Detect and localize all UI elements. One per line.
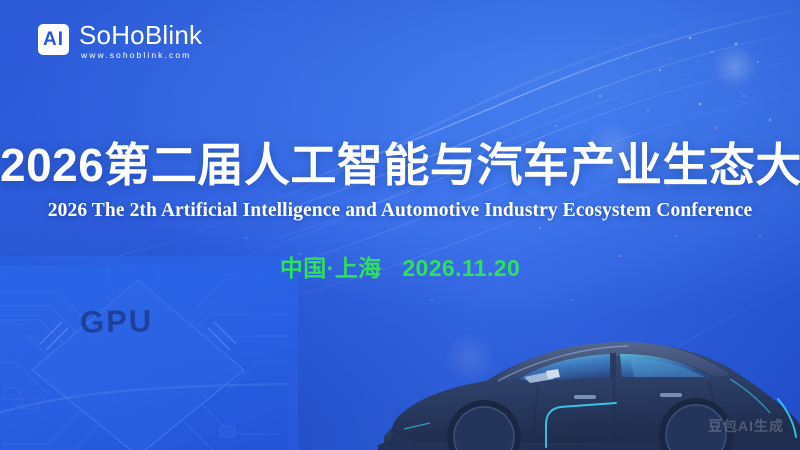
conference-poster: GPU — [0, 0, 800, 450]
event-date: 2026.11.20 — [402, 255, 520, 281]
gpu-chip-graphic: GPU — [0, 266, 288, 450]
ai-logo-mark-text: AI — [43, 30, 64, 49]
ai-watermark: 豆包AI生成 — [708, 416, 784, 436]
gpu-chip-label: GPU — [80, 303, 154, 341]
page-title: 2026第二届人工智能与汽车产业生态大会 — [0, 139, 800, 191]
brand-name: SoHoBlink — [79, 22, 202, 48]
brand-website: www.sohoblink.com — [81, 50, 202, 61]
event-location: 中国·上海 — [280, 255, 382, 281]
event-meta: 中国·上海 2026.11.20 — [0, 253, 800, 283]
headline-block: 2026第二届人工智能与汽车产业生态大会 2026 The 2th Artifi… — [0, 139, 800, 283]
brand-logo[interactable]: AI SoHoBlink www.sohoblink.com — [38, 22, 202, 61]
brand-logo-text: SoHoBlink www.sohoblink.com — [79, 22, 202, 61]
ai-logo-mark: AI — [38, 24, 69, 55]
page-subtitle: 2026 The 2th Artificial Intelligence and… — [0, 199, 800, 223]
